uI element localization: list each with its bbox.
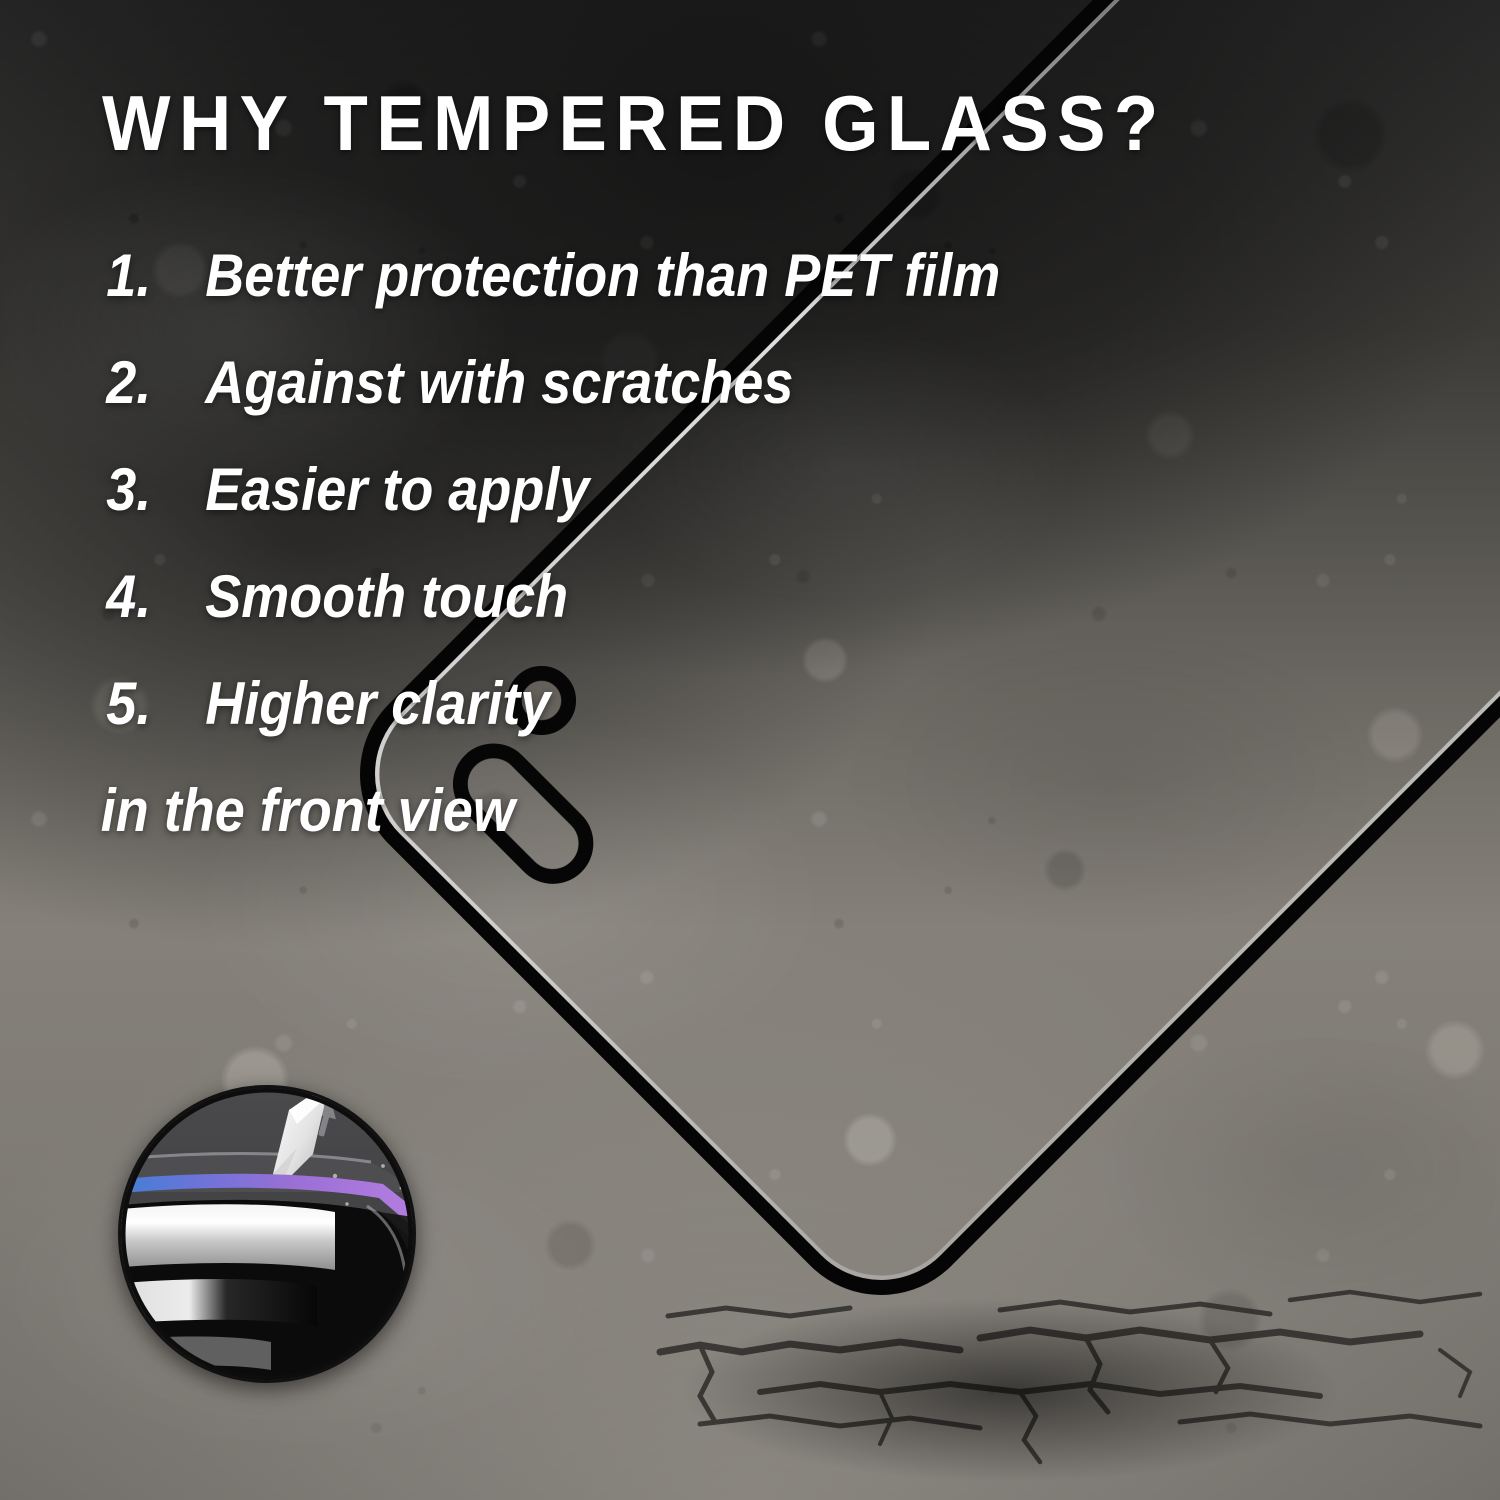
phone-frame-highlight [121,1204,335,1270]
benefit-item-5-continuation: in the front view [0,775,720,882]
benefit-item-1: 1. Better protection than PET film [0,240,720,347]
benefit-text: Against with scratches [205,347,793,419]
benefit-item-5: 5. Higher clarity [0,668,720,775]
benefit-number: 2. [106,347,151,419]
benefit-text: Better protection than PET film [205,240,1000,312]
benefit-text: in the front view [101,775,515,847]
scratch-detail-inset [118,1085,416,1383]
benefit-number: 3. [106,454,151,526]
benefit-number: 4. [106,561,151,633]
benefit-text: Higher clarity [205,668,550,740]
benefit-item-2: 2. Against with scratches [0,347,720,454]
benefit-item-4: 4. Smooth touch [0,561,720,668]
page-title: WHY TEMPERED GLASS? [102,84,1167,162]
benefit-item-3: 3. Easier to apply [0,454,720,561]
benefit-list: 1. Better protection than PET film 2. Ag… [0,240,800,882]
benefit-number: 1. [106,240,151,312]
benefit-text: Smooth touch [205,561,568,633]
benefit-number: 5. [106,668,151,740]
product-infographic: WHY TEMPERED GLASS? 1. Better protection… [0,0,1500,1500]
benefit-text: Easier to apply [205,454,589,526]
